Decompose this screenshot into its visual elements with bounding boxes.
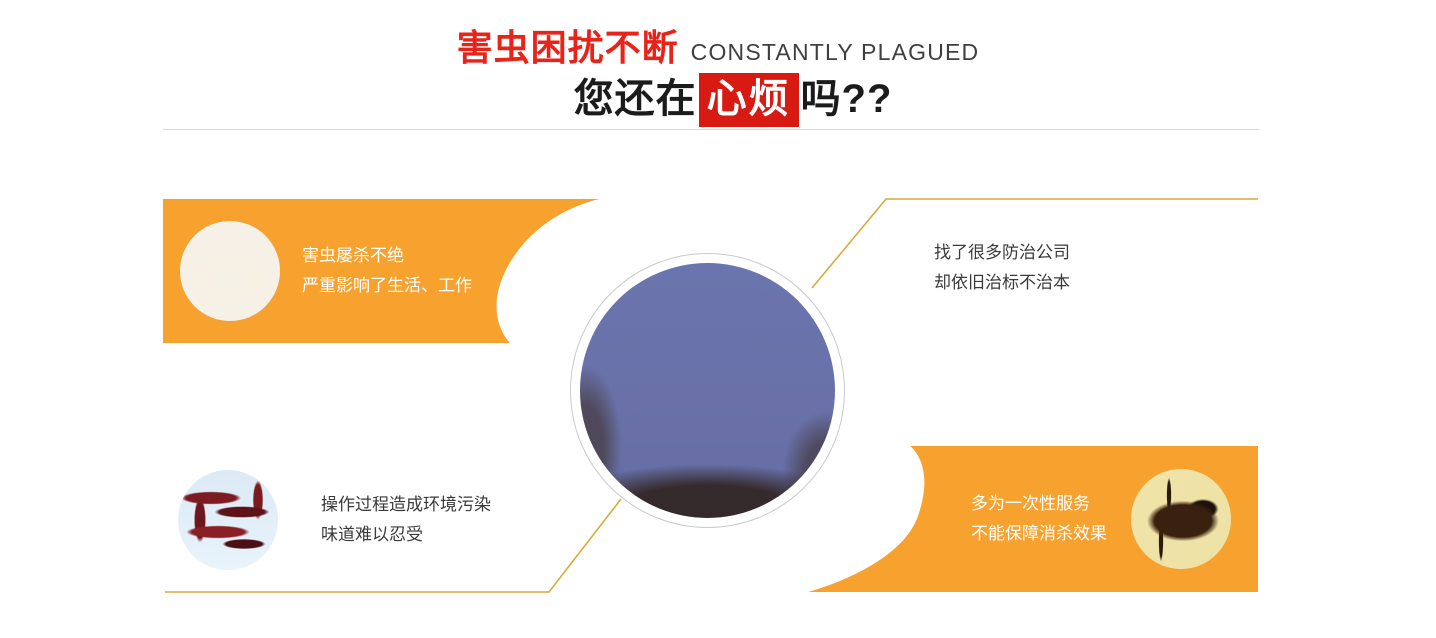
problem-card-bottom-left-text: 操作过程造成环境污染 味道难以忍受	[321, 490, 491, 550]
cockroach-on-food-photo	[1131, 469, 1231, 569]
card-line-2: 严重影响了生活、工作	[302, 271, 472, 301]
header-divider	[163, 129, 1259, 130]
card-line-2: 味道难以忍受	[321, 520, 491, 550]
headline-chinese: 害虫困扰不断	[457, 27, 679, 68]
card-line-2: 不能保障消杀效果	[971, 519, 1107, 549]
subline-before: 您还在	[574, 77, 697, 121]
problem-card-bottom-right-text: 多为一次性服务 不能保障消杀效果	[971, 489, 1107, 549]
card-line-1: 多为一次性服务	[971, 489, 1107, 519]
card-line-1: 操作过程造成环境污染	[321, 490, 491, 520]
problem-card-pollution-and-odor: 操作过程造成环境污染 味道难以忍受	[178, 460, 618, 580]
headline-secondary: 您还在心烦吗??	[0, 79, 1436, 119]
page-header: 害虫困扰不断CONSTANTLY PLAGUED 您还在心烦吗??	[0, 30, 1436, 119]
card-line-2: 却依旧治标不治本	[934, 268, 1070, 298]
problem-card-bottom-right-content: 多为一次性服务 不能保障消杀效果	[808, 446, 1258, 592]
card-line-1: 找了很多防治公司	[934, 238, 1070, 268]
headline-primary: 害虫困扰不断CONSTANTLY PLAGUED	[0, 30, 1436, 66]
problem-card-top-left-text: 害虫屡杀不绝 严重影响了生活、工作	[302, 241, 472, 301]
subline-after: 吗??	[801, 77, 893, 121]
problem-card-many-companies-no-cure: 找了很多防治公司 却依旧治标不治本	[934, 238, 1070, 298]
center-circle-photo	[580, 263, 835, 518]
problem-card-top-left-content: 害虫屡杀不绝 严重影响了生活、工作	[163, 199, 600, 343]
card-line-1: 害虫屡杀不绝	[302, 241, 472, 271]
microscopic-crystals-red-blue-photo	[178, 470, 278, 570]
headline-english: CONSTANTLY PLAGUED	[691, 39, 980, 65]
cockroach-closeup-dark-photo	[180, 221, 280, 321]
subline-highlight: 心烦	[699, 73, 799, 127]
pest-control-problems-infographic: 害虫困扰不断CONSTANTLY PLAGUED 您还在心烦吗?? 害虫屡杀不绝…	[0, 0, 1436, 638]
